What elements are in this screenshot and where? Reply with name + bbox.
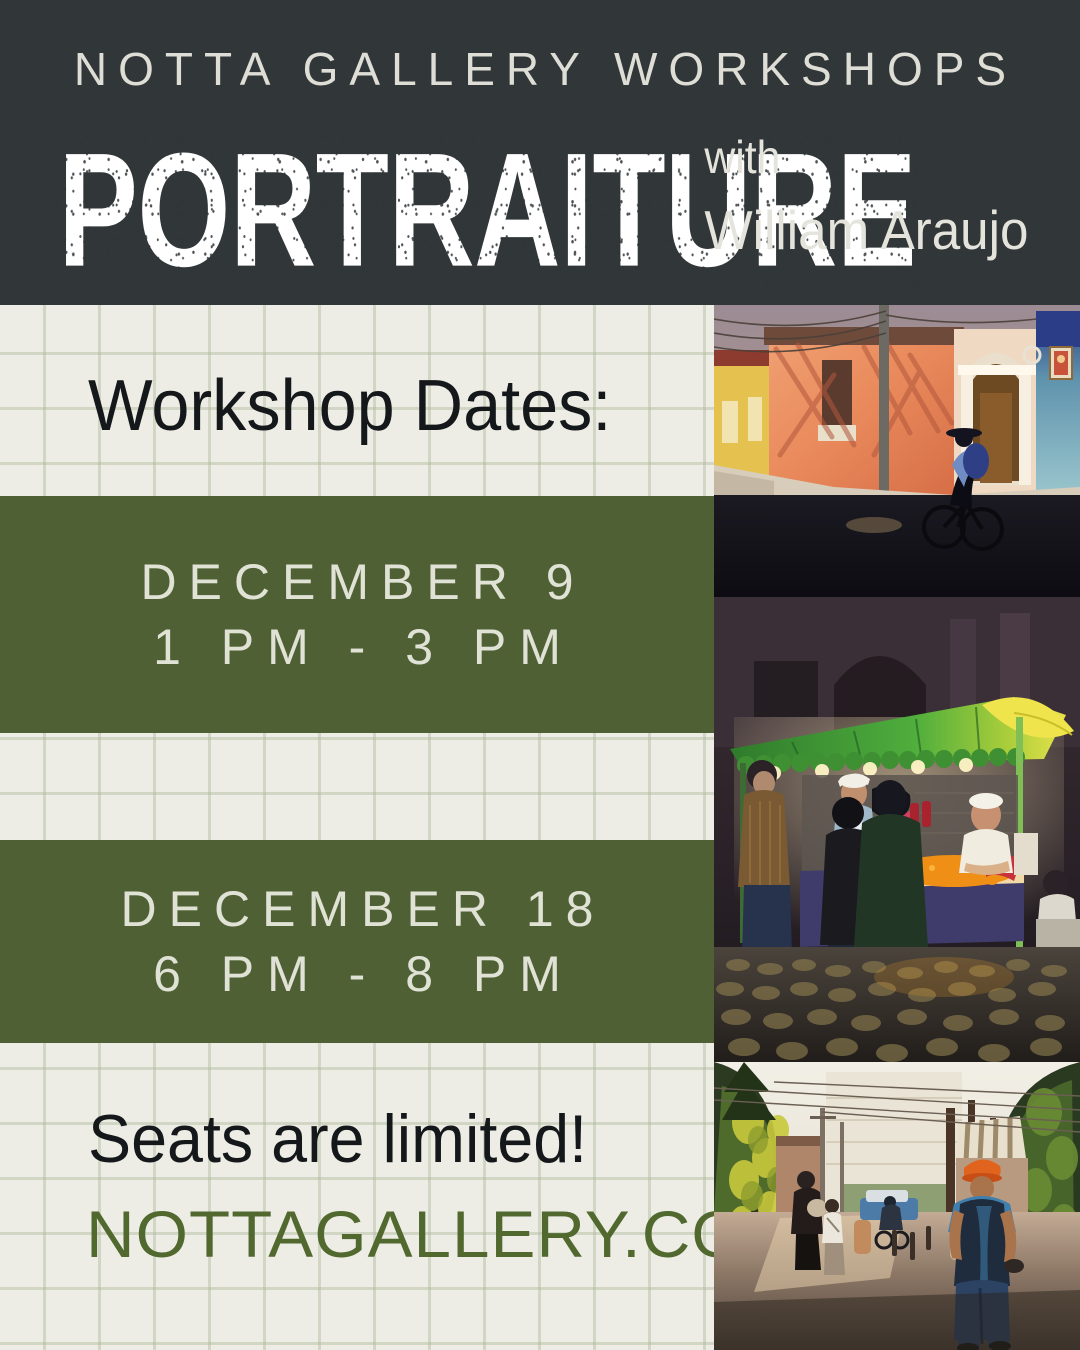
cyclist-on-colonial-street-painting	[714, 305, 1080, 597]
session-date: DECEMBER 18	[109, 877, 606, 942]
grid-background-panel	[0, 305, 714, 1350]
session-time: 1 PM - 3 PM	[140, 615, 574, 680]
session-date: DECEMBER 9	[128, 550, 585, 615]
gallery-eyebrow-text: NOTTA GALLERY WORKSHOPS	[0, 42, 1080, 96]
instructor-block: with William Araujo	[704, 124, 1028, 270]
seats-limited-note: Seats are limited!	[88, 1100, 587, 1178]
poster-canvas: NOTTA GALLERY WORKSHOPS PORTRAITURE with…	[0, 0, 1080, 1350]
workshop-dates-heading: Workshop Dates:	[88, 365, 611, 447]
poster-header: NOTTA GALLERY WORKSHOPS PORTRAITURE with…	[0, 0, 1080, 305]
with-label: with	[704, 124, 1028, 191]
man-walking-tree-lined-street-painting	[714, 1062, 1080, 1350]
session-band-december-18: DECEMBER 18 6 PM - 8 PM	[0, 840, 714, 1043]
session-time: 6 PM - 8 PM	[140, 942, 574, 1007]
night-market-food-stall-painting	[714, 597, 1080, 1062]
session-band-december-9: DECEMBER 9 1 PM - 3 PM	[0, 496, 714, 733]
artwork-column	[714, 305, 1080, 1350]
website-link[interactable]: NOTTAGALLERY.COM	[86, 1196, 802, 1272]
instructor-name: William Araujo	[704, 191, 1028, 271]
